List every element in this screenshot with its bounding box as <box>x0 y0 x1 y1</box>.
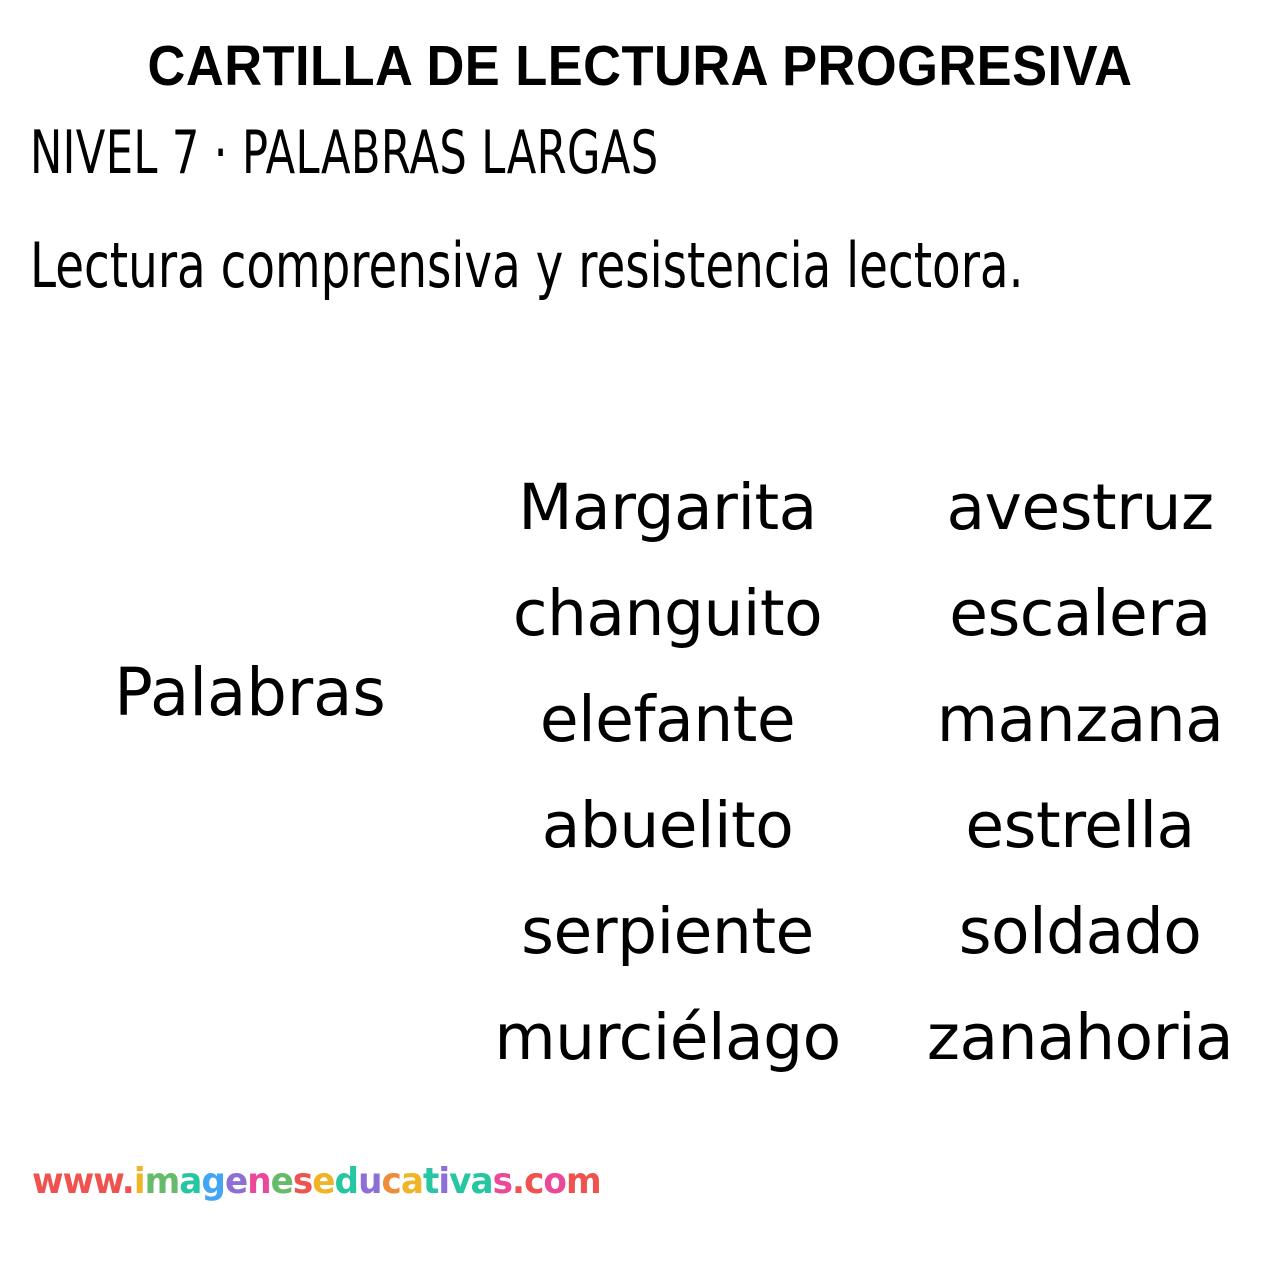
word-column-1: Margarita changuito elefante abuelito se… <box>455 455 880 1091</box>
watermark-letter: t <box>423 1161 438 1202</box>
word-item: changuito <box>455 561 880 667</box>
description-text: Lectura comprensiva y resistencia lector… <box>30 233 1024 298</box>
watermark-letter: e <box>271 1161 293 1202</box>
word-item: elefante <box>455 667 880 773</box>
watermark-letter: w <box>93 1161 121 1202</box>
watermark-letter: a <box>179 1161 201 1202</box>
page-title: CARTILLA DE LECTURA PROGRESIVA <box>51 38 1229 95</box>
word-item: estrella <box>880 773 1280 879</box>
words-section: Margarita changuito elefante abuelito se… <box>0 455 1280 1075</box>
row-label-palabras: Palabras <box>46 660 453 726</box>
worksheet-page: CARTILLA DE LECTURA PROGRESIVA NIVEL 7 ·… <box>0 0 1280 1280</box>
word-item: abuelito <box>455 773 880 879</box>
watermark-letter: s <box>293 1161 312 1202</box>
word-item: manzana <box>880 667 1280 773</box>
word-item: escalera <box>880 561 1280 667</box>
word-item: zanahoria <box>880 985 1280 1091</box>
word-column-2: avestruz escalera manzana estrella solda… <box>880 455 1280 1091</box>
watermark-letter: m <box>566 1161 601 1202</box>
watermark-letter: . <box>512 1161 524 1202</box>
watermark-letter: n <box>247 1161 270 1202</box>
watermark-letter: g <box>201 1161 225 1202</box>
watermark-letter: s <box>493 1161 512 1202</box>
watermark-letter: a <box>470 1161 492 1202</box>
word-item: serpiente <box>455 879 880 985</box>
watermark-letter: w <box>63 1161 94 1202</box>
watermark-letter: v <box>449 1161 470 1202</box>
watermark-letter: d <box>335 1161 359 1202</box>
word-item: avestruz <box>880 455 1280 561</box>
watermark-letter: i <box>438 1161 449 1202</box>
watermark-letter: c <box>381 1161 400 1202</box>
watermark-letter: m <box>145 1161 180 1202</box>
watermark-letter: o <box>543 1161 566 1202</box>
watermark-letter: . <box>122 1161 134 1202</box>
watermark-letter: u <box>358 1161 381 1202</box>
watermark-letter: i <box>134 1161 145 1202</box>
word-columns: Margarita changuito elefante abuelito se… <box>455 455 1280 1091</box>
site-watermark: www.imageneseducativas.com <box>32 1164 601 1200</box>
watermark-letter: e <box>312 1161 334 1202</box>
word-item: soldado <box>880 879 1280 985</box>
watermark-letter: e <box>225 1161 247 1202</box>
watermark-letter: w <box>32 1161 63 1202</box>
word-item: Margarita <box>455 455 880 561</box>
watermark-letter: a <box>401 1161 423 1202</box>
word-item: murciélago <box>455 985 880 1091</box>
level-subtitle: NIVEL 7 · PALABRAS LARGAS <box>30 122 659 185</box>
watermark-letter: c <box>524 1161 543 1202</box>
